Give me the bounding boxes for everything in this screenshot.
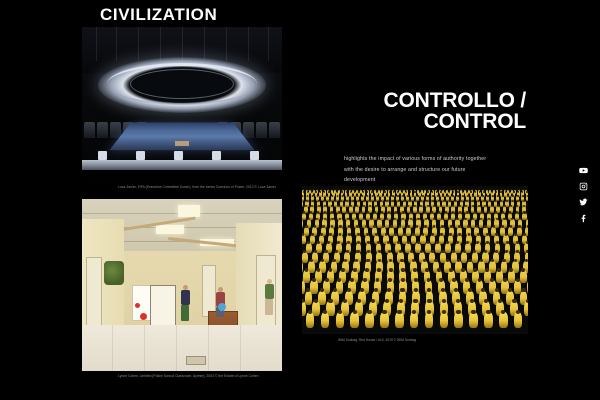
crowd-figure-head (458, 225, 461, 228)
crowd-figure (398, 227, 403, 236)
crowd-figure-head (470, 191, 471, 192)
crowd-figure-head (329, 233, 332, 236)
crowd-figure-head (392, 200, 394, 202)
crowd-figure-head (526, 299, 528, 303)
hall-rail-post (250, 151, 259, 160)
crowd-figure-head (441, 225, 444, 228)
crowd-figure-head (363, 278, 367, 282)
crowd-figure (302, 235, 306, 245)
crowd-figure (393, 219, 398, 227)
crowd-figure-head (371, 191, 372, 192)
crowd-figure-head (452, 195, 454, 197)
crowd-figure-head (392, 195, 394, 197)
crowd-figure-head (305, 225, 308, 228)
crowd-figure-head (523, 200, 525, 202)
crowd-figure-head (374, 211, 376, 213)
crowd-figure-head (310, 211, 312, 213)
crowd-figure-head (510, 225, 513, 228)
crowd-figure-head (417, 211, 419, 213)
crowd-figure-head (384, 191, 385, 192)
crowd-figure (419, 206, 423, 213)
crowd-figure-head (491, 205, 493, 207)
crowd-figure-head (442, 299, 446, 303)
crowd-figure-head (437, 268, 441, 272)
headline: CONTROLLO / CONTROL (302, 90, 528, 132)
classroom-illustration (82, 199, 282, 371)
crowd-figure-head (526, 250, 528, 253)
image-yellow-crowd[interactable] (302, 186, 528, 334)
crowd-figure (426, 206, 430, 213)
crowd-figure (312, 301, 320, 316)
crowd-figure-head (353, 310, 357, 314)
crowd-figure-head (382, 205, 384, 207)
crowd-figure-head (501, 225, 504, 228)
person-legs (265, 299, 273, 315)
page-root: CIVILIZATION (0, 0, 600, 400)
crowd-figure-head (477, 195, 479, 197)
crowd-figure-head (466, 211, 468, 213)
crowd-figure-head (386, 200, 388, 202)
crowd-figure-head (377, 268, 381, 272)
crowd-figure-head (407, 225, 410, 228)
crowd-figure-head (440, 233, 443, 236)
headline-line-1: CONTROLLO / (384, 89, 526, 112)
crowd-figure-head (460, 200, 462, 202)
crowd-figure-head (502, 195, 504, 197)
crowd-figure-head (356, 250, 359, 253)
crowd-figure-head (431, 211, 433, 213)
crowd-figure (302, 213, 306, 221)
crowd-figure-head (378, 250, 381, 253)
crowd-figure-head (352, 200, 354, 202)
crowd-figure-head (402, 195, 404, 197)
crowd-figure-head (526, 241, 528, 244)
crowd-figure-head (426, 200, 428, 202)
crowd-figure-head (397, 195, 399, 197)
crowd-figure-head (373, 225, 376, 228)
floor-grid-line (144, 325, 145, 371)
crowd-figure (350, 312, 359, 328)
crowd-figure (525, 227, 528, 236)
classroom-floor-vent (186, 356, 206, 365)
floor-grid-line (208, 325, 209, 371)
hall-chair (84, 122, 95, 138)
crowd-figure (524, 301, 528, 316)
crowd-figure-head (403, 200, 405, 202)
ceiling-light-panel (178, 205, 200, 217)
hall-chair (97, 122, 108, 138)
hall-chair (243, 122, 254, 138)
person-torso (265, 284, 274, 299)
crowd-figure-head (443, 200, 445, 202)
crowd-figure-head (374, 288, 378, 292)
crowd-figure (376, 196, 379, 201)
crowd-figure-head (487, 195, 489, 197)
crowd-figure-head (357, 233, 360, 236)
crowd-figure-head (369, 200, 371, 202)
hall-ceiling-slat (138, 27, 139, 61)
crowd-figure-head (521, 288, 525, 292)
crowd-figure (435, 243, 441, 253)
crowd-figure (406, 227, 411, 236)
crowd-figure-head (462, 195, 464, 197)
crowd-figure (440, 312, 449, 328)
twitter-icon[interactable] (579, 198, 588, 207)
crowd-figure-head (328, 299, 332, 303)
crowd-figure-head (495, 233, 498, 236)
crowd-figure-head (492, 195, 494, 197)
crowd-figure-head (437, 195, 439, 197)
crowd-figure-head (358, 191, 359, 192)
crowd-figure-head (312, 278, 316, 282)
headline-line-2: CONTROL (302, 111, 526, 132)
image-conference-hall[interactable] (82, 27, 282, 182)
crowd-figure-head (456, 299, 460, 303)
left-column: Luca Zanier, FIFA (Executive Committee Z… (82, 27, 282, 379)
crowd-figure-head (331, 225, 334, 228)
crowd-figure-head (449, 200, 451, 202)
crowd-figure-head (350, 191, 351, 192)
crowd-figure-head (320, 233, 323, 236)
crowd-figure-head (317, 211, 319, 213)
crowd-figure-head (346, 250, 349, 253)
crowd-figure-head (472, 195, 474, 197)
crowd-figure-head (395, 205, 397, 207)
crowd-figure-head (483, 200, 485, 202)
floor-grid-line (240, 325, 241, 371)
crowd-figure (505, 201, 508, 207)
crowd-figure-head (483, 191, 484, 192)
crowd-figure-head (363, 200, 365, 202)
instagram-icon[interactable] (579, 182, 588, 191)
hall-table-document (175, 141, 189, 146)
crowd-figure-head (314, 225, 317, 228)
crowd-figure (472, 252, 478, 263)
crowd-figure-head (390, 225, 393, 228)
hall-table (110, 123, 255, 151)
crowd-figure-head (467, 225, 470, 228)
crowd-figure-head (381, 211, 383, 213)
crowd-figure-head (413, 268, 417, 272)
crowd-figure-head (495, 288, 499, 292)
crowd-figure-head (322, 225, 325, 228)
crowd-figure-head (402, 211, 404, 213)
crowd-figure (430, 235, 435, 245)
hall-floor (82, 170, 282, 182)
crowd-figure-head (333, 191, 334, 192)
crowd-figure-head (523, 211, 525, 213)
crowd-figure-head (413, 299, 417, 303)
crowd-figure (508, 227, 513, 236)
crowd-figure-head (504, 205, 506, 207)
crowd-figure-head (485, 268, 489, 272)
crowd-figure (321, 312, 330, 328)
crowd-figure (479, 219, 484, 227)
crowd-figure-head (442, 310, 446, 314)
figure-classroom: Lynne Cohen, Untitled [Police School Cla… (82, 199, 282, 379)
crowd-figure-head (400, 288, 404, 292)
hall-ceiling-slat (182, 27, 183, 61)
crowd-figure-head (459, 205, 461, 207)
classroom-person-right (262, 279, 276, 331)
hall-ceiling-slat (96, 27, 97, 61)
crowd-figure-head (424, 211, 426, 213)
crowd-figure (306, 312, 315, 328)
crowd-figure (302, 219, 303, 227)
crowd-figure-head (315, 191, 316, 192)
crowd-figure (416, 196, 419, 201)
crowd-figure-head (431, 233, 434, 236)
crowd-figure-head (382, 310, 386, 314)
crowd-figure-head (512, 195, 514, 197)
crowd-figure-head (353, 268, 357, 272)
crowd-figure (484, 206, 488, 213)
crowd-figure-head (475, 191, 476, 192)
crowd-figure-head (350, 205, 352, 207)
crowd-figure-head (493, 225, 496, 228)
crowd-figure (494, 219, 499, 227)
crowd-figure-head (477, 233, 480, 236)
crowd-figure-head (517, 200, 519, 202)
crowd-figure-head (472, 200, 474, 202)
crowd-figure-head (492, 191, 493, 192)
crowd-figure-head (303, 211, 305, 213)
crowd-figure-head (474, 211, 476, 213)
crowd-figure-head (380, 200, 382, 202)
crowd-figure-head (471, 310, 475, 314)
crowd-figure-head (306, 200, 308, 202)
crowd-figure-head (488, 211, 490, 213)
crowd-figure-head (341, 268, 345, 272)
crowd-figure-head (414, 191, 415, 192)
crowd-figure-head (450, 225, 453, 228)
crowd-figure-head (432, 195, 434, 197)
crowd-figure-head (353, 211, 355, 213)
crowd-figure-head (488, 191, 489, 192)
crowd-figure-head (509, 211, 511, 213)
crowd-figure-head (465, 278, 469, 282)
figure-caption: Lynne Cohen, Untitled [Police School Cla… (82, 371, 282, 379)
crowd-figure-head (343, 299, 347, 303)
crowd-figure (302, 280, 305, 293)
ceiling-light-panel (156, 225, 184, 234)
crowd-figure (302, 201, 303, 207)
page-title: CIVILIZATION (100, 6, 217, 23)
crowd-figure-head (489, 200, 491, 202)
crowd-figure-head (424, 225, 427, 228)
crowd-figure-head (367, 310, 371, 314)
crowd-figure-head (467, 195, 469, 197)
crowd-figure (461, 252, 467, 263)
classroom-plant (104, 261, 124, 285)
crowd-figure-head (427, 299, 431, 303)
hall-ceiling-slat (160, 27, 161, 61)
crowd-figure (302, 252, 308, 263)
crowd-figure-head (449, 191, 450, 192)
crowd-figure (310, 280, 317, 293)
crowd-figure-head (367, 211, 369, 213)
crowd-figure-head (466, 200, 468, 202)
crowd-figure-head (346, 211, 348, 213)
crowd-figure (395, 312, 404, 328)
crowd-figure-head (410, 250, 413, 253)
crowd-figure-head (522, 195, 524, 197)
crowd-figure-head (420, 200, 422, 202)
crowd-figure (305, 291, 313, 305)
crowd-figure-head (324, 211, 326, 213)
crowd-figure-head (338, 310, 342, 314)
crowd-figure-head (366, 233, 369, 236)
crowd-figure-head (407, 241, 410, 244)
crowd-figure-head (427, 191, 428, 192)
crowd-figure (420, 235, 425, 245)
crowd-figure-head (397, 310, 401, 314)
crowd-figure-head (517, 195, 519, 197)
crowd-figure-head (356, 225, 359, 228)
crowd-figure-head (425, 268, 429, 272)
crowd-figure-head (516, 278, 520, 282)
crowd-figure-head (371, 299, 375, 303)
crowd-figure-head (514, 233, 517, 236)
figure-caption: Luca Zanier, FIFA (Executive Committee Z… (82, 182, 282, 190)
hall-rail (82, 160, 282, 170)
crowd-figure-head (402, 191, 403, 192)
crowd-figure (520, 270, 527, 283)
crowd-figure-head (463, 250, 466, 253)
conference-hall-illustration (82, 27, 282, 182)
crowd-figure (527, 280, 528, 293)
crowd-figure-head (500, 200, 502, 202)
crowd-figure-head (472, 205, 474, 207)
crowd-figure-head (461, 268, 465, 272)
crowd-figure-head (512, 299, 516, 303)
crowd-figure-head (346, 200, 348, 202)
crowd-figure-head (452, 278, 456, 282)
crowd-figure-head (506, 200, 508, 202)
youtube-icon[interactable] (579, 166, 588, 175)
crowd-figure (456, 196, 459, 201)
crowd-figure-head (357, 299, 361, 303)
crowd-figure-head (417, 195, 419, 197)
crowd-figure-head (473, 268, 477, 272)
crowd-figure-head (445, 191, 446, 192)
crowd-figure-head (482, 195, 484, 197)
crowd-figure (517, 227, 522, 236)
crowd-figure (362, 206, 366, 213)
crowd-figure-head (409, 200, 411, 202)
crowd-figure-head (527, 195, 528, 197)
hall-rail-post (136, 151, 145, 160)
crowd-figure (496, 196, 499, 201)
crowd-figure-head (438, 211, 440, 213)
crowd-figure-head (447, 195, 449, 197)
crowd-figure-head (427, 195, 429, 197)
crowd-figure (469, 312, 478, 328)
crowd-figure-head (376, 191, 377, 192)
crowd-figure-head (440, 191, 441, 192)
facebook-icon[interactable] (579, 214, 588, 223)
crowd-figure-head (323, 200, 325, 202)
crowd-figure-head (338, 211, 340, 213)
crowd-figure-head (500, 191, 501, 192)
crowd-figure-head (495, 250, 498, 253)
crowd-figure (490, 206, 494, 213)
crowd-figure-head (341, 191, 342, 192)
hall-ceiling-slat (268, 27, 269, 61)
crowd-figure (345, 201, 348, 207)
crowd-figure-head (329, 200, 331, 202)
crowd-figure (487, 219, 492, 227)
figure-conference-hall: Luca Zanier, FIFA (Executive Committee Z… (82, 27, 282, 190)
crowd-figure-head (328, 191, 329, 192)
crowd-figure (365, 312, 374, 328)
crowd-figure (336, 196, 339, 201)
crowd-figure-head (481, 211, 483, 213)
crowd-figure-head (495, 211, 497, 213)
hall-rail-post (98, 151, 107, 160)
crowd-figure-head (523, 233, 526, 236)
crowd-figure-head (389, 191, 390, 192)
crowd-figure (514, 312, 523, 328)
crowd-figure-head (401, 268, 405, 272)
crowd-figure-head (311, 233, 314, 236)
crowd-figure (445, 243, 451, 253)
image-classroom[interactable] (82, 199, 282, 371)
crowd-figure-head (509, 268, 513, 272)
person-legs (181, 305, 189, 321)
crowd-figure-head (360, 211, 362, 213)
right-column: CONTROLLO / CONTROL highlights the impac… (302, 90, 528, 186)
crowd-figure-head (427, 205, 429, 207)
crowd-figure (355, 206, 359, 213)
crowd-figure-head (476, 225, 479, 228)
hall-chair (269, 122, 280, 138)
crowd-figure-head (432, 191, 433, 192)
crowd-figure-head (417, 241, 420, 244)
crowd-figure (336, 312, 345, 328)
crowd-figure-head (513, 191, 514, 192)
crowd-figure-head (432, 200, 434, 202)
person-torso (181, 290, 190, 305)
crowd-figure (484, 312, 493, 328)
figure-caption: WIM Sonbag, Red House / #13, 2019 © WIM … (302, 334, 528, 343)
crowd-figure-head (502, 211, 504, 213)
crowd-figure (380, 312, 389, 328)
crowd-figure (499, 312, 508, 328)
crowd-figure-head (339, 233, 342, 236)
crowd-figure-head (325, 278, 329, 282)
crowd-figure-head (445, 211, 447, 213)
hall-chair (256, 122, 267, 138)
hall-ceiling-slat (248, 27, 249, 61)
crowd-figure-head (339, 225, 342, 228)
crowd-figure (415, 227, 420, 236)
crowd-figure (526, 196, 528, 201)
ring-chandelier-inner (130, 69, 234, 99)
crowd-figure-head (518, 225, 521, 228)
figure-yellow-crowd: WIM Sonbag, Red House / #13, 2019 © WIM … (302, 186, 528, 343)
headline-description: highlights the impact of various forms o… (302, 154, 492, 186)
hall-ceiling-slat (116, 27, 117, 61)
crowd-figure-head (518, 191, 519, 192)
crowd-figure-head (456, 310, 460, 314)
crowd-figure-head (407, 195, 409, 197)
crowd-figure-head (307, 191, 308, 192)
crowd-figure (385, 219, 390, 227)
hall-ceiling-slat (226, 27, 227, 61)
crowd-figure-head (312, 200, 314, 202)
crowd-figure-head (486, 310, 490, 314)
